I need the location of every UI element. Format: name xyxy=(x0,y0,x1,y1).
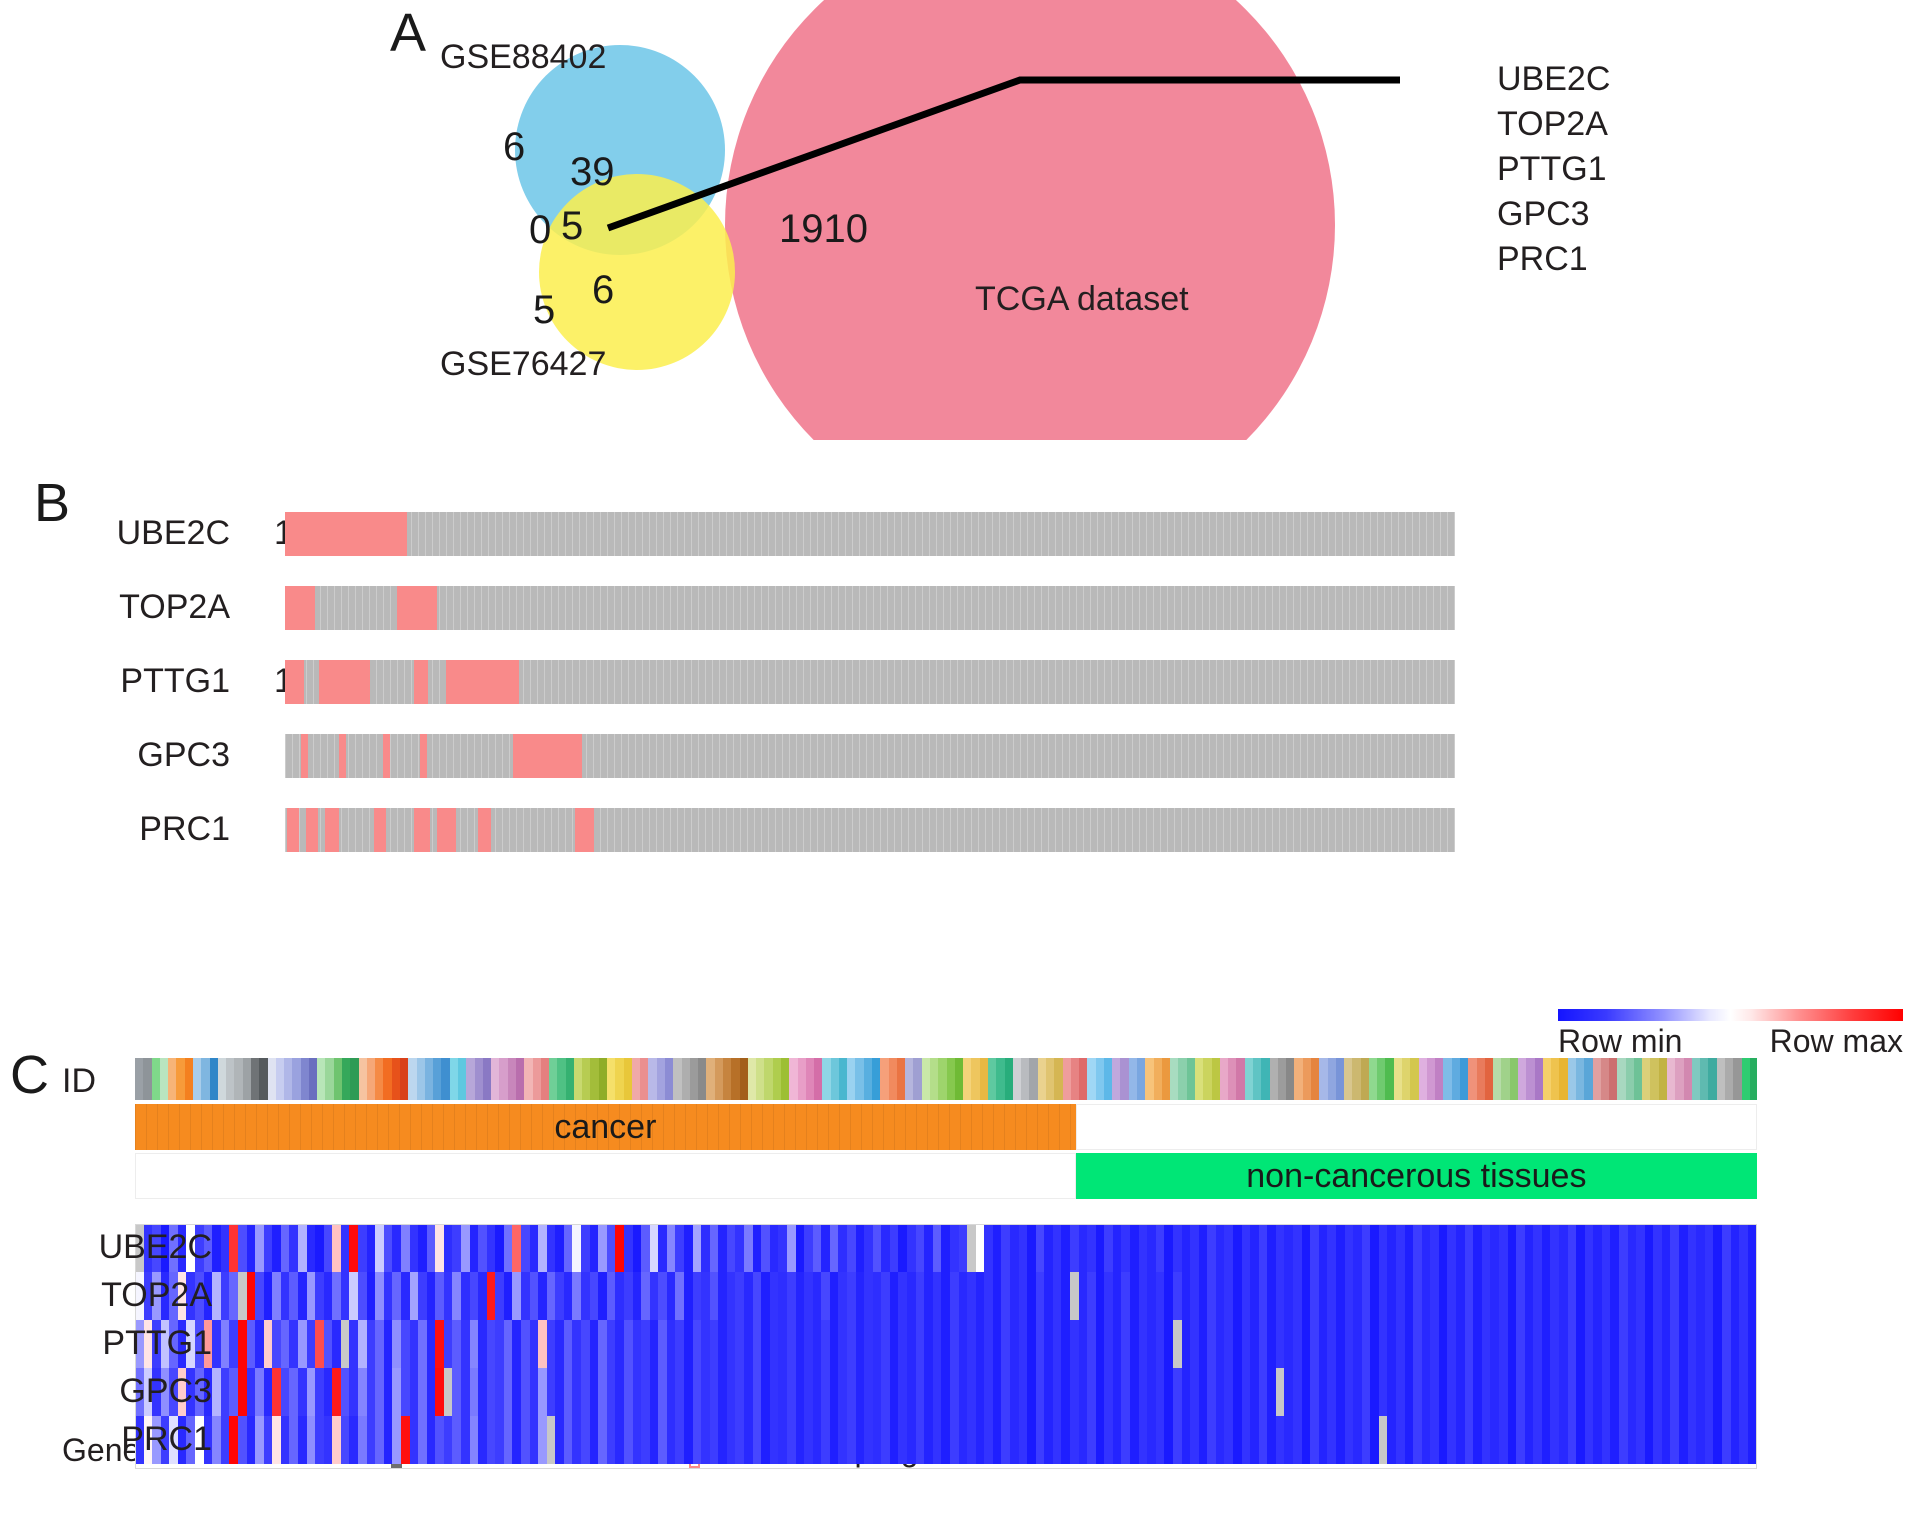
heatmap-cell xyxy=(916,1272,925,1320)
id-track-cell xyxy=(723,1058,731,1100)
heatmap-cell xyxy=(1447,1416,1456,1464)
heatmap-cell xyxy=(255,1368,264,1416)
id-track-cell xyxy=(922,1058,930,1100)
heatmap-cell xyxy=(1199,1368,1208,1416)
heatmap-cell xyxy=(1542,1368,1551,1416)
heatmap-cell xyxy=(864,1320,873,1368)
heatmap-cell xyxy=(521,1416,530,1464)
heatmap-cell xyxy=(1250,1368,1259,1416)
annotation-non-cancerous: non-cancerous tissues xyxy=(1076,1153,1757,1199)
heatmap-cell xyxy=(238,1272,247,1320)
heatmap-cell xyxy=(401,1416,410,1464)
heatmap-cell xyxy=(1019,1320,1028,1368)
colorbar-min-label: Row min xyxy=(1558,1023,1682,1060)
venn-label-tcga: TCGA dataset xyxy=(975,280,1189,319)
id-track-cell xyxy=(1667,1058,1675,1100)
heatmap-cell xyxy=(375,1224,384,1272)
heatmap-cell xyxy=(1379,1272,1388,1320)
heatmap-cell xyxy=(418,1416,427,1464)
heatmap-cell xyxy=(1387,1224,1396,1272)
heatmap-cell xyxy=(984,1368,993,1416)
heatmap-cell xyxy=(521,1320,530,1368)
id-track-cell xyxy=(234,1058,242,1100)
heatmap-cell xyxy=(1327,1224,1336,1272)
heatmap-cell xyxy=(1430,1272,1439,1320)
heatmap-cell xyxy=(1284,1272,1293,1320)
heatmap-cell xyxy=(710,1224,719,1272)
heatmap-cell xyxy=(633,1272,642,1320)
heatmap-cell xyxy=(289,1272,298,1320)
heatmap-cell xyxy=(813,1368,822,1416)
heatmap-cell xyxy=(1276,1368,1285,1416)
heatmap-cell xyxy=(264,1272,273,1320)
heatmap-cell xyxy=(367,1224,376,1272)
heatmap-cell xyxy=(1739,1320,1748,1368)
heatmap-cell xyxy=(1233,1224,1242,1272)
heatmap-cell xyxy=(710,1368,719,1416)
heatmap-cell xyxy=(1276,1416,1285,1464)
heatmap-cell xyxy=(1413,1416,1422,1464)
heatmap-cell xyxy=(1482,1368,1491,1416)
id-track-cell xyxy=(309,1058,317,1100)
heatmap-cell xyxy=(1190,1224,1199,1272)
heatmap-cell xyxy=(787,1416,796,1464)
id-track-cell xyxy=(1344,1058,1352,1100)
heatmap-cell xyxy=(238,1320,247,1368)
heatmap-cell xyxy=(1113,1416,1122,1464)
heatmap-cell xyxy=(830,1368,839,1416)
callout-gene-1: TOP2A xyxy=(1497,102,1610,147)
id-track-cell xyxy=(218,1058,226,1100)
heatmap-cell xyxy=(993,1320,1002,1368)
heatmap-cell xyxy=(1688,1416,1697,1464)
heatmap-cell xyxy=(1490,1272,1499,1320)
heatmap-cell xyxy=(1679,1224,1688,1272)
heatmap-cell xyxy=(555,1272,564,1320)
heatmap-cell xyxy=(1550,1224,1559,1272)
heatmap-cell xyxy=(693,1272,702,1320)
id-track-cell xyxy=(135,1058,143,1100)
heatmap-cell xyxy=(1379,1224,1388,1272)
heatmap-cell xyxy=(1130,1272,1139,1320)
heatmap-cell xyxy=(933,1272,942,1320)
heatmap-cell xyxy=(1662,1416,1671,1464)
heatmap-cell xyxy=(247,1368,256,1416)
heatmap-cell xyxy=(898,1416,907,1464)
id-track-cell xyxy=(872,1058,880,1100)
heatmap-cell xyxy=(221,1224,230,1272)
heatmap-cell xyxy=(615,1272,624,1320)
heatmap-cell xyxy=(281,1320,290,1368)
heatmap-cell xyxy=(384,1224,393,1272)
heatmap-cell xyxy=(1379,1368,1388,1416)
id-track-cell xyxy=(1551,1058,1559,1100)
heatmap-cell xyxy=(264,1320,273,1368)
heatmap-cell xyxy=(461,1368,470,1416)
heatmap-cell xyxy=(1628,1224,1637,1272)
heatmap-cell xyxy=(770,1224,779,1272)
heatmap-cell xyxy=(770,1320,779,1368)
heatmap-cell xyxy=(1396,1224,1405,1272)
heatmap-cell xyxy=(470,1320,479,1368)
heatmap-cell xyxy=(718,1224,727,1272)
heatmap-cell xyxy=(1508,1416,1517,1464)
heatmap-cell xyxy=(598,1224,607,1272)
heatmap-cell xyxy=(856,1416,865,1464)
heatmap-cell xyxy=(1525,1416,1534,1464)
heatmap-cell xyxy=(1696,1320,1705,1368)
heatmap-cell xyxy=(1224,1368,1233,1416)
heatmap-cell xyxy=(993,1224,1002,1272)
heatmap-cell xyxy=(1722,1224,1731,1272)
heatmap-cell xyxy=(933,1320,942,1368)
heatmap-cell xyxy=(667,1224,676,1272)
heatmap-cell xyxy=(1182,1320,1191,1368)
heatmap-cell xyxy=(710,1416,719,1464)
oncoprint-gene-label: GPC3 xyxy=(60,736,230,775)
heatmap-cell xyxy=(1001,1272,1010,1320)
heatmap-gene-label: PRC1 xyxy=(22,1420,212,1459)
heatmap-cell xyxy=(1242,1368,1251,1416)
heatmap-cell xyxy=(272,1224,281,1272)
heatmap-cell xyxy=(1353,1272,1362,1320)
id-track-cell xyxy=(1112,1058,1120,1100)
heatmap-cell xyxy=(1645,1368,1654,1416)
heatmap-cell xyxy=(1113,1368,1122,1416)
id-track-cell xyxy=(1659,1058,1667,1100)
heatmap-cell xyxy=(255,1224,264,1272)
heatmap-cell xyxy=(1610,1272,1619,1320)
heatmap-cell xyxy=(1096,1368,1105,1416)
heatmap-cell xyxy=(1533,1224,1542,1272)
id-track-cell xyxy=(673,1058,681,1100)
heatmap-cell xyxy=(1267,1320,1276,1368)
colorbar-gradient-icon xyxy=(1558,1009,1903,1021)
id-track-cell xyxy=(615,1058,623,1100)
heatmap-cell xyxy=(718,1416,727,1464)
heatmap-cell xyxy=(1121,1272,1130,1320)
heatmap-cell xyxy=(358,1320,367,1368)
id-track-cell xyxy=(897,1058,905,1100)
oncoprint-altered-cell xyxy=(285,660,304,704)
id-track-cell xyxy=(1270,1058,1278,1100)
id-track-cell xyxy=(1593,1058,1601,1100)
heatmap-cell xyxy=(1585,1368,1594,1416)
id-track-cell xyxy=(1187,1058,1195,1100)
heatmap-cell xyxy=(873,1224,882,1272)
heatmap-cell xyxy=(718,1272,727,1320)
id-track-cell xyxy=(1452,1058,1460,1100)
heatmap-cell xyxy=(1001,1368,1010,1416)
id-track-cell xyxy=(1684,1058,1692,1100)
heatmap-cell xyxy=(1585,1416,1594,1464)
heatmap-cell xyxy=(1482,1320,1491,1368)
id-track-cell xyxy=(375,1058,383,1100)
heatmap-cell xyxy=(1199,1320,1208,1368)
id-track-cell xyxy=(342,1058,350,1100)
heatmap-cell xyxy=(1259,1368,1268,1416)
heatmap-cell xyxy=(1628,1416,1637,1464)
heatmap-cell xyxy=(873,1272,882,1320)
heatmap-cell xyxy=(538,1368,547,1416)
heatmap-cell xyxy=(512,1320,521,1368)
venn-count-gse88402-only: 6 xyxy=(503,125,525,170)
heatmap-cell xyxy=(1207,1416,1216,1464)
heatmap-cell xyxy=(1456,1320,1465,1368)
heatmap-cell xyxy=(272,1320,281,1368)
id-track-cell xyxy=(971,1058,979,1100)
id-track-cell xyxy=(938,1058,946,1100)
heatmap-cell xyxy=(1293,1320,1302,1368)
heatmap-cell xyxy=(1508,1272,1517,1320)
heatmap-cell xyxy=(1370,1224,1379,1272)
heatmap-cell xyxy=(1739,1272,1748,1320)
id-track-cell xyxy=(1120,1058,1128,1100)
heatmap-cell xyxy=(1465,1368,1474,1416)
heatmap-cell xyxy=(1104,1416,1113,1464)
heatmap-cell xyxy=(418,1272,427,1320)
heatmap-cell xyxy=(1224,1224,1233,1272)
id-track-cell xyxy=(847,1058,855,1100)
heatmap-cell xyxy=(1559,1224,1568,1272)
oncoprint-gene-label: PTTG1 xyxy=(60,662,230,701)
heatmap-cell xyxy=(1104,1272,1113,1320)
heatmap-cell xyxy=(1405,1416,1414,1464)
heatmap-cell xyxy=(898,1224,907,1272)
heatmap-cell xyxy=(1576,1368,1585,1416)
id-track-cell xyxy=(1054,1058,1062,1100)
heatmap-cell xyxy=(735,1320,744,1368)
id-track-cell xyxy=(1750,1058,1757,1100)
heatmap-cell xyxy=(1688,1320,1697,1368)
heatmap-cell xyxy=(1182,1368,1191,1416)
id-track-cell xyxy=(292,1058,300,1100)
id-track-cell xyxy=(1195,1058,1203,1100)
heatmap-cell xyxy=(959,1416,968,1464)
heatmap-cell xyxy=(1559,1416,1568,1464)
heatmap-cell xyxy=(452,1368,461,1416)
heatmap-cell xyxy=(238,1224,247,1272)
heatmap-cell xyxy=(512,1224,521,1272)
heatmap-cell xyxy=(1705,1224,1714,1272)
id-track-cell xyxy=(557,1058,565,1100)
heatmap-cell xyxy=(289,1224,298,1272)
heatmap-cell xyxy=(1679,1320,1688,1368)
heatmap-cell xyxy=(641,1368,650,1416)
heatmap-cell xyxy=(984,1320,993,1368)
heatmap-cell xyxy=(847,1272,856,1320)
heatmap-cell xyxy=(581,1224,590,1272)
heatmap-cell xyxy=(1705,1272,1714,1320)
heatmap-cell xyxy=(838,1368,847,1416)
id-track-cell xyxy=(176,1058,184,1100)
heatmap-cell xyxy=(941,1272,950,1320)
heatmap-cell xyxy=(281,1224,290,1272)
heatmap-cell xyxy=(1568,1272,1577,1320)
oncoprint-altered-cell xyxy=(420,734,427,778)
id-track-cell xyxy=(1046,1058,1054,1100)
heatmap-row xyxy=(135,1272,1757,1320)
heatmap-cell xyxy=(324,1272,333,1320)
id-track-cell xyxy=(533,1058,541,1100)
heatmap-cell xyxy=(547,1272,556,1320)
heatmap-cell xyxy=(212,1224,221,1272)
heatmap-cell xyxy=(1036,1320,1045,1368)
heatmap-cell xyxy=(247,1272,256,1320)
heatmap-cell xyxy=(1070,1416,1079,1464)
id-track-cell xyxy=(1145,1058,1153,1100)
heatmap-cell xyxy=(1087,1272,1096,1320)
id-track-cell xyxy=(1692,1058,1700,1100)
id-track-cell xyxy=(1096,1058,1104,1100)
id-track-cell xyxy=(259,1058,267,1100)
heatmap-cell xyxy=(1465,1320,1474,1368)
heatmap-cell xyxy=(1250,1416,1259,1464)
heatmap-cell xyxy=(1216,1368,1225,1416)
heatmap-cell xyxy=(1190,1272,1199,1320)
heatmap-cell xyxy=(1104,1368,1113,1416)
heatmap-cell xyxy=(624,1368,633,1416)
heatmap-cell xyxy=(530,1368,539,1416)
heatmap-cell xyxy=(1096,1224,1105,1272)
id-track-cell xyxy=(210,1058,218,1100)
heatmap-cell xyxy=(1156,1416,1165,1464)
heatmap-cell xyxy=(1362,1320,1371,1368)
heatmap-cell xyxy=(658,1224,667,1272)
heatmap-colorbar: Row min Row max xyxy=(1558,1009,1903,1060)
heatmap-cell xyxy=(1053,1320,1062,1368)
heatmap-cell xyxy=(1465,1224,1474,1272)
heatmap-cell xyxy=(1027,1416,1036,1464)
heatmap-cell xyxy=(1267,1272,1276,1320)
heatmap-cell xyxy=(1696,1272,1705,1320)
heatmap-cell xyxy=(298,1416,307,1464)
heatmap-cell xyxy=(796,1416,805,1464)
id-track-cell xyxy=(731,1058,739,1100)
heatmap-cell xyxy=(1353,1416,1362,1464)
heatmap-cell xyxy=(1619,1320,1628,1368)
heatmap-cell xyxy=(1473,1224,1482,1272)
heatmap-cell xyxy=(1713,1272,1722,1320)
heatmap-cell xyxy=(367,1272,376,1320)
callout-gene-2: PTTG1 xyxy=(1497,147,1610,192)
heatmap-cell xyxy=(1310,1272,1319,1320)
heatmap-cell xyxy=(495,1224,504,1272)
heatmap-cell xyxy=(1542,1224,1551,1272)
oncoprint-altered-cell xyxy=(478,808,491,852)
heatmap-cell xyxy=(358,1416,367,1464)
oncoprint-altered-cell xyxy=(414,808,430,852)
heatmap-cell xyxy=(1533,1416,1542,1464)
heatmap-cell xyxy=(410,1320,419,1368)
heatmap-cell xyxy=(315,1224,324,1272)
heatmap-cell xyxy=(1731,1320,1740,1368)
heatmap-cell xyxy=(495,1272,504,1320)
heatmap-cell xyxy=(384,1272,393,1320)
oncoprint-track xyxy=(285,808,1455,852)
heatmap-cell xyxy=(976,1224,985,1272)
id-track-cell xyxy=(1162,1058,1170,1100)
oncoprint-altered-cell xyxy=(575,808,594,852)
heatmap-cell xyxy=(435,1368,444,1416)
heatmap-cell xyxy=(684,1368,693,1416)
heatmap-cell xyxy=(572,1416,581,1464)
oncoprint-gene-label: UBE2C xyxy=(60,514,230,553)
id-track-cell xyxy=(715,1058,723,1100)
heatmap-cell xyxy=(1070,1224,1079,1272)
heatmap-cell xyxy=(324,1368,333,1416)
id-track-cell xyxy=(466,1058,474,1100)
heatmap-cell xyxy=(272,1272,281,1320)
id-track-cell xyxy=(1294,1058,1302,1100)
heatmap-cell xyxy=(1439,1368,1448,1416)
heatmap-cell xyxy=(444,1416,453,1464)
heatmap-cell xyxy=(572,1272,581,1320)
id-track-cell xyxy=(1038,1058,1046,1100)
heatmap-cell xyxy=(727,1320,736,1368)
venn-count-gse88402-gse76427: 0 xyxy=(529,208,551,253)
heatmap-cell xyxy=(1173,1368,1182,1416)
heatmap-cell xyxy=(813,1416,822,1464)
heatmap-cell xyxy=(744,1416,753,1464)
heatmap-cell xyxy=(1164,1416,1173,1464)
heatmap-cell xyxy=(1207,1368,1216,1416)
heatmap-cell xyxy=(341,1320,350,1368)
heatmap-cell xyxy=(410,1224,419,1272)
heatmap-cell xyxy=(384,1368,393,1416)
heatmap-cell xyxy=(959,1224,968,1272)
heatmap-cell xyxy=(1250,1320,1259,1368)
id-track-cell xyxy=(276,1058,284,1100)
heatmap-cell xyxy=(367,1320,376,1368)
heatmap-cell xyxy=(384,1416,393,1464)
heatmap-cell xyxy=(221,1272,230,1320)
heatmap-cell xyxy=(916,1416,925,1464)
oncoprint-altered-cell xyxy=(301,734,308,778)
heatmap-cell xyxy=(392,1272,401,1320)
id-track-cell xyxy=(599,1058,607,1100)
id-track-cell xyxy=(1460,1058,1468,1100)
heatmap-cell xyxy=(1688,1272,1697,1320)
heatmap-cell xyxy=(1585,1272,1594,1320)
heatmap-cell xyxy=(1508,1224,1517,1272)
heatmap-cell xyxy=(332,1224,341,1272)
heatmap-cell xyxy=(1216,1320,1225,1368)
heatmap-cell xyxy=(1602,1272,1611,1320)
heatmap-cell xyxy=(1044,1272,1053,1320)
heatmap-cell xyxy=(1636,1416,1645,1464)
heatmap-cell xyxy=(1387,1320,1396,1368)
id-track-cell xyxy=(334,1058,342,1100)
heatmap-cell xyxy=(1319,1272,1328,1320)
heatmap-cell xyxy=(418,1320,427,1368)
heatmap-cell xyxy=(1550,1320,1559,1368)
heatmap-cell xyxy=(581,1320,590,1368)
heatmap-cell xyxy=(1396,1368,1405,1416)
heatmap-cell xyxy=(864,1272,873,1320)
heatmap-cell xyxy=(1422,1368,1431,1416)
heatmap-cell xyxy=(1310,1368,1319,1416)
heatmap-cell xyxy=(1628,1272,1637,1320)
id-track-cell xyxy=(1717,1058,1725,1100)
heatmap-cell xyxy=(658,1272,667,1320)
id-track-cell xyxy=(1535,1058,1543,1100)
heatmap-cell xyxy=(1139,1416,1148,1464)
heatmap-cell xyxy=(1610,1224,1619,1272)
id-track-cell xyxy=(1733,1058,1741,1100)
heatmap-cell xyxy=(796,1224,805,1272)
heatmap-cell xyxy=(1447,1320,1456,1368)
